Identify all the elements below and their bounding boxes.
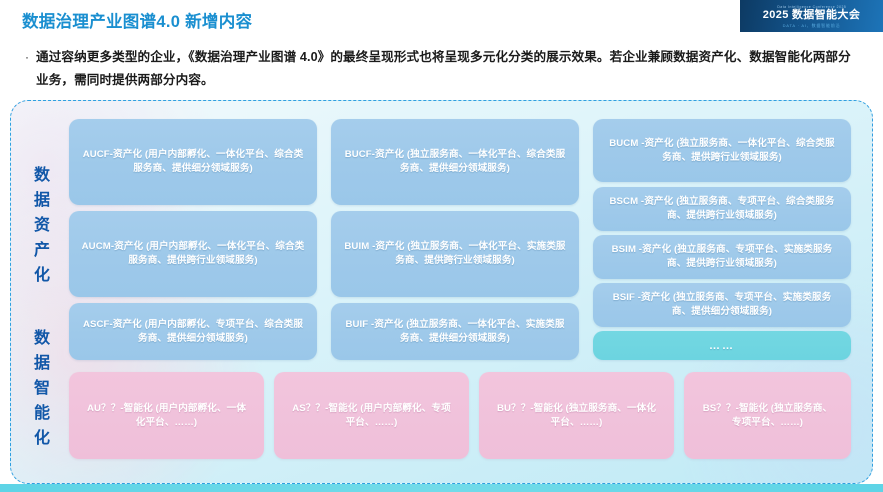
asset-card-bscm[interactable]: BSCM -资产化 (独立服务商、专项平台、综合类服务商、提供跨行业领域服务) bbox=[593, 187, 851, 231]
asset-card-bscm-label: BSCM -资产化 (独立服务商、专项平台、综合类服务商、提供跨行业领域服务) bbox=[605, 195, 839, 223]
section-label-intel-c2: 智 bbox=[25, 376, 59, 401]
slide-root: Data Intelligence Conference 2025 2025数据… bbox=[0, 0, 883, 492]
asset-card-buim[interactable]: BUIM -资产化 (独立服务商、一体化平台、实施类服务商、提供跨行业领域服务) bbox=[331, 211, 579, 297]
asset-card-ascf[interactable]: ASCF-资产化 (用户内部孵化、专项平台、综合类服务商、提供细分领域服务) bbox=[69, 303, 317, 360]
conference-logo: Data Intelligence Conference 2025 2025数据… bbox=[740, 0, 883, 32]
asset-card-aucf-label: AUCF-资产化 (用户内部孵化、一体化平台、综合类服务商、提供细分领域服务) bbox=[81, 148, 305, 176]
intelligence-card-as[interactable]: AS？？-智能化 (用户内部孵化、专项平台、……) bbox=[274, 372, 469, 459]
section-label-asset-c0: 数 bbox=[25, 163, 59, 188]
asset-card-bucf[interactable]: BUCF-资产化 (独立服务商、一体化平台、综合类服务商、提供细分领域服务) bbox=[331, 119, 579, 205]
section-label-intel-c0: 数 bbox=[25, 326, 59, 351]
asset-card-bucm-label: BUCM -资产化 (独立服务商、一体化平台、综合类服务商、提供跨行业领域服务) bbox=[605, 137, 839, 165]
asset-card-bucm[interactable]: BUCM -资产化 (独立服务商、一体化平台、综合类服务商、提供跨行业领域服务) bbox=[593, 119, 851, 182]
bottom-accent-strip bbox=[0, 484, 883, 492]
section-label-asset-c4: 化 bbox=[25, 263, 59, 288]
bullet-text: 通过容纳更多类型的企业，《数据治理产业图谱 4.0》的最终呈现形式也将呈现多元化… bbox=[36, 46, 863, 92]
bullet-marker: · bbox=[18, 46, 36, 69]
diagram-panel: 数 据 资 产 化 数 据 智 能 化 AUCF-资产化 (用户内部孵化、一体化… bbox=[10, 100, 873, 484]
asset-card-bsif[interactable]: BSIF -资产化 (独立服务商、专项平台、实施类服务商、提供细分领域服务) bbox=[593, 283, 851, 327]
section-label-intel-c1: 据 bbox=[25, 351, 59, 376]
bullet-paragraph: · 通过容纳更多类型的企业，《数据治理产业图谱 4.0》的最终呈现形式也将呈现多… bbox=[18, 46, 863, 92]
logo-main: 2025数据智能大会 bbox=[763, 9, 860, 22]
asset-card-buif[interactable]: BUIF -资产化 (独立服务商、一体化平台、实施类服务商、提供细分领域服务) bbox=[331, 303, 579, 360]
section-label-intelligence: 数 据 智 能 化 bbox=[25, 326, 59, 451]
intelligence-card-au[interactable]: AU？？-智能化 (用户内部孵化、一体化平台、……) bbox=[69, 372, 264, 459]
section-label-intel-c4: 化 bbox=[25, 426, 59, 451]
logo-subtitle: DATA · AI、数据智能前沿 bbox=[783, 23, 841, 29]
logo-name: 数据智能大会 bbox=[792, 9, 860, 21]
intelligence-card-bu-label: BU？？-智能化 (独立服务商、一体化平台、……) bbox=[493, 402, 660, 430]
section-label-asset-c2: 资 bbox=[25, 213, 59, 238]
section-label-asset-c3: 产 bbox=[25, 238, 59, 263]
asset-card-aucm[interactable]: AUCM-资产化 (用户内部孵化、一体化平台、综合类服务商、提供跨行业领域服务) bbox=[69, 211, 317, 297]
page-title: 数据治理产业图谱4.0 新增内容 bbox=[22, 8, 252, 32]
asset-card-more[interactable]: …… bbox=[593, 331, 851, 360]
asset-card-bucf-label: BUCF-资产化 (独立服务商、一体化平台、综合类服务商、提供细分领域服务) bbox=[343, 148, 567, 176]
asset-card-buif-label: BUIF -资产化 (独立服务商、一体化平台、实施类服务商、提供细分领域服务) bbox=[343, 318, 567, 346]
asset-card-bsim-label: BSIM -资产化 (独立服务商、专项平台、实施类服务商、提供跨行业领域服务) bbox=[605, 243, 839, 271]
logo-eyebrow: Data Intelligence Conference 2025 bbox=[777, 4, 846, 8]
asset-card-bsim[interactable]: BSIM -资产化 (独立服务商、专项平台、实施类服务商、提供跨行业领域服务) bbox=[593, 235, 851, 279]
asset-card-more-label: …… bbox=[709, 339, 735, 353]
asset-card-aucf[interactable]: AUCF-资产化 (用户内部孵化、一体化平台、综合类服务商、提供细分领域服务) bbox=[69, 119, 317, 205]
asset-card-aucm-label: AUCM-资产化 (用户内部孵化、一体化平台、综合类服务商、提供跨行业领域服务) bbox=[81, 240, 305, 268]
intelligence-card-bs-label: BS？？-智能化 (独立服务商、专项平台、……) bbox=[698, 402, 837, 430]
asset-card-bsif-label: BSIF -资产化 (独立服务商、专项平台、实施类服务商、提供细分领域服务) bbox=[605, 291, 839, 319]
intelligence-card-as-label: AS？？-智能化 (用户内部孵化、专项平台、……) bbox=[288, 402, 455, 430]
section-label-asset: 数 据 资 产 化 bbox=[25, 163, 59, 288]
asset-card-buim-label: BUIM -资产化 (独立服务商、一体化平台、实施类服务商、提供跨行业领域服务) bbox=[343, 240, 567, 268]
section-label-intel-c3: 能 bbox=[25, 401, 59, 426]
section-label-asset-c1: 据 bbox=[25, 188, 59, 213]
intelligence-card-au-label: AU？？-智能化 (用户内部孵化、一体化平台、……) bbox=[83, 402, 250, 430]
intelligence-card-bs[interactable]: BS？？-智能化 (独立服务商、专项平台、……) bbox=[684, 372, 851, 459]
intelligence-card-bu[interactable]: BU？？-智能化 (独立服务商、一体化平台、……) bbox=[479, 372, 674, 459]
logo-year: 2025 bbox=[763, 9, 789, 21]
asset-card-ascf-label: ASCF-资产化 (用户内部孵化、专项平台、综合类服务商、提供细分领域服务) bbox=[81, 318, 305, 346]
